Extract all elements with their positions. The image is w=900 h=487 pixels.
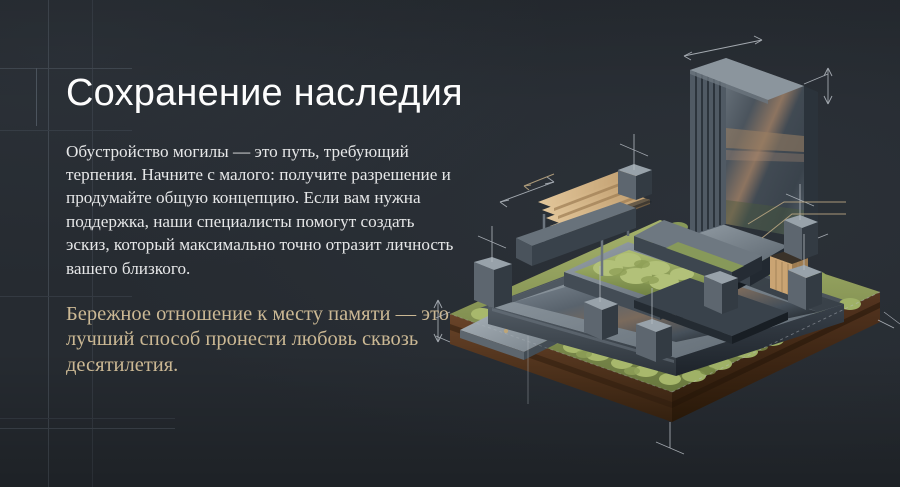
- fence-post: [784, 215, 818, 260]
- fence-post: [584, 297, 618, 340]
- page-title: Сохранение наследия: [66, 72, 466, 115]
- grid-dimension-tick: [36, 68, 37, 126]
- fence-post: [636, 319, 672, 362]
- grid-hline-4: [0, 418, 175, 419]
- isometric-grave-plot-render: [432, 24, 900, 476]
- grid-hline-5: [0, 428, 175, 429]
- slide-root: Сохранение наследия Обустройство могилы …: [0, 0, 900, 487]
- fence-post: [788, 265, 822, 310]
- grid-vline-1: [48, 0, 49, 487]
- fence-post: [704, 271, 738, 314]
- text-column: Сохранение наследия Обустройство могилы …: [66, 72, 466, 378]
- fence-post: [618, 164, 652, 200]
- grid-hline-1: [0, 68, 132, 69]
- accent-paragraph: Бережное отношение к месту памяти — это …: [66, 302, 481, 379]
- body-paragraph: Обустройство могилы — это путь, требующи…: [66, 140, 461, 280]
- fence-post: [474, 257, 512, 308]
